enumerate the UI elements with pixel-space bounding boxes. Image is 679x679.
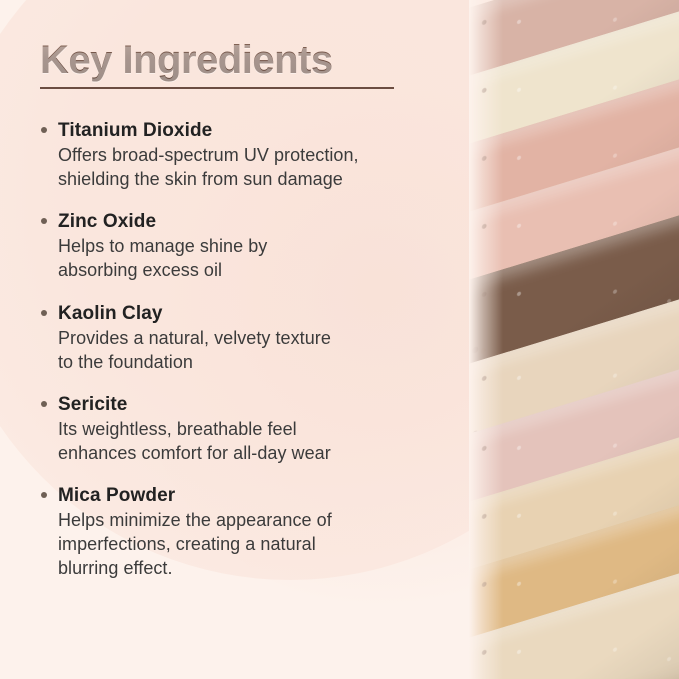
powder-swatch-panel (469, 0, 679, 679)
ingredient-description: Helps to manage shine by absorbing exces… (58, 234, 450, 282)
bullet-icon (41, 310, 47, 316)
page-title-block: Key Ingredients (40, 38, 394, 89)
swatch-dusty-rose (469, 354, 679, 564)
ingredient-list: Titanium DioxideOffers broad-spectrum UV… (40, 118, 450, 581)
swatch-rose-beige (469, 0, 679, 138)
ingredient-description: Offers broad-spectrum UV protection, shi… (58, 143, 450, 191)
ingredient-name: Mica Powder (58, 483, 450, 508)
ingredient-name: Titanium Dioxide (58, 118, 450, 143)
ingredient-item: Mica PowderHelps minimize the appearance… (40, 483, 450, 580)
ingredient-item: Kaolin ClayProvides a natural, velvety t… (40, 301, 450, 374)
bullet-icon (41, 218, 47, 224)
swatch-blush-pink (469, 64, 679, 274)
ingredient-description: Its weightless, breathable feel enhances… (58, 417, 450, 465)
swatch-deep-brown (469, 200, 679, 410)
ingredient-item: Zinc OxideHelps to manage shine by absor… (40, 209, 450, 282)
ingredient-description: Provides a natural, velvety texture to t… (58, 326, 450, 374)
ingredient-description: Helps minimize the appearance of imperfe… (58, 508, 450, 580)
ingredient-name: Kaolin Clay (58, 301, 450, 326)
ingredient-item: SericiteIts weightless, breathable feel … (40, 392, 450, 465)
swatch-cream (469, 0, 679, 206)
ingredient-name: Sericite (58, 392, 450, 417)
bullet-icon (41, 492, 47, 498)
bullet-icon (41, 401, 47, 407)
swatch-warm-beige (469, 422, 679, 632)
title-underline (40, 87, 394, 89)
swatch-fade-edge (469, 0, 679, 679)
content-column: Key Ingredients Titanium DioxideOffers b… (0, 0, 470, 679)
ingredient-name: Zinc Oxide (58, 209, 450, 234)
swatch-golden-tan (469, 490, 679, 679)
page-title: Key Ingredients (40, 38, 394, 83)
key-ingredients-poster: Key Ingredients Titanium DioxideOffers b… (0, 0, 679, 679)
swatch-pale-ivory (469, 558, 679, 679)
bullet-icon (41, 127, 47, 133)
swatch-soft-pink (469, 132, 679, 342)
swatch-light-sand (469, 284, 679, 494)
ingredient-item: Titanium DioxideOffers broad-spectrum UV… (40, 118, 450, 191)
